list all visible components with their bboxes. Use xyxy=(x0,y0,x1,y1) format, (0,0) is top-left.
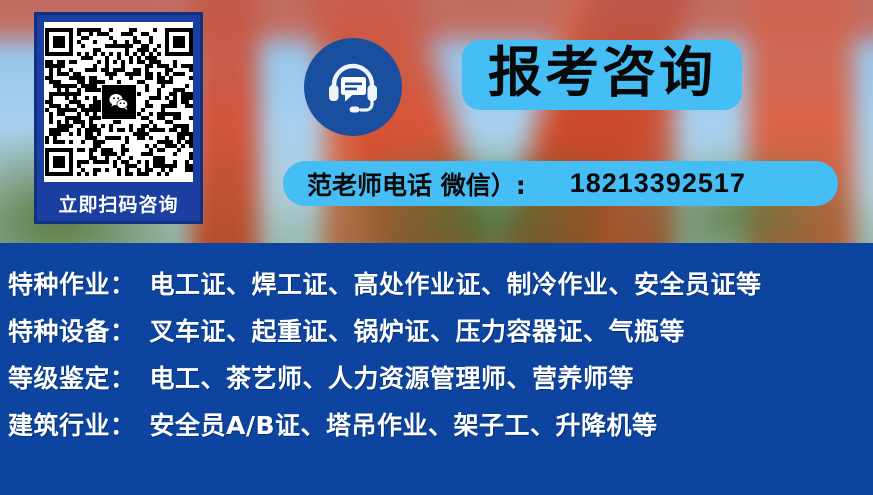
category-row: 特种作业： 电工证、焊工证、高处作业证、制冷作业、安全员证等 xyxy=(8,265,873,312)
page-title: 报考咨询 xyxy=(488,46,716,100)
qr-caption: 立即扫码咨询 xyxy=(44,182,193,224)
contact-pill[interactable]: 范老师电话 微信）: 18213392517 xyxy=(283,161,838,206)
category-label: 建筑行业： xyxy=(8,406,136,442)
category-label: 等级鉴定： xyxy=(8,359,136,395)
contact-phone-number[interactable]: 18213392517 xyxy=(570,168,746,199)
title-pill: 报考咨询 xyxy=(462,40,742,110)
category-value: 安全员A/B证、塔吊作业、架子工、升降机等 xyxy=(150,406,658,442)
category-value: 叉车证、起重证、锅炉证、压力容器证、气瓶等 xyxy=(150,312,686,348)
category-row: 建筑行业： 安全员A/B证、塔吊作业、架子工、升降机等 xyxy=(8,406,873,453)
category-row: 特种设备： 叉车证、起重证、锅炉证、压力容器证、气瓶等 xyxy=(8,312,873,359)
qr-code-image[interactable] xyxy=(45,28,193,176)
wechat-icon xyxy=(102,85,136,119)
contact-label: 范老师电话 微信）: xyxy=(307,166,526,202)
category-label: 特种设备： xyxy=(8,312,136,348)
category-value: 电工证、焊工证、高处作业证、制冷作业、安全员证等 xyxy=(150,265,762,301)
advertisement-poster: 立即扫码咨询 报考咨询 范老师电话 微信）: 18213392517 特种作业：… xyxy=(0,0,873,495)
category-row: 等级鉴定： 电工、茶艺师、人力资源管理师、营养师等 xyxy=(8,359,873,406)
category-value: 电工、茶艺师、人力资源管理师、营养师等 xyxy=(150,359,635,395)
headset-support-icon xyxy=(304,38,402,136)
category-label: 特种作业： xyxy=(8,265,136,301)
qr-code-card[interactable]: 立即扫码咨询 xyxy=(34,12,203,224)
category-list-panel: 特种作业： 电工证、焊工证、高处作业证、制冷作业、安全员证等 特种设备： 叉车证… xyxy=(0,243,873,495)
qr-code-surface[interactable] xyxy=(44,22,193,182)
